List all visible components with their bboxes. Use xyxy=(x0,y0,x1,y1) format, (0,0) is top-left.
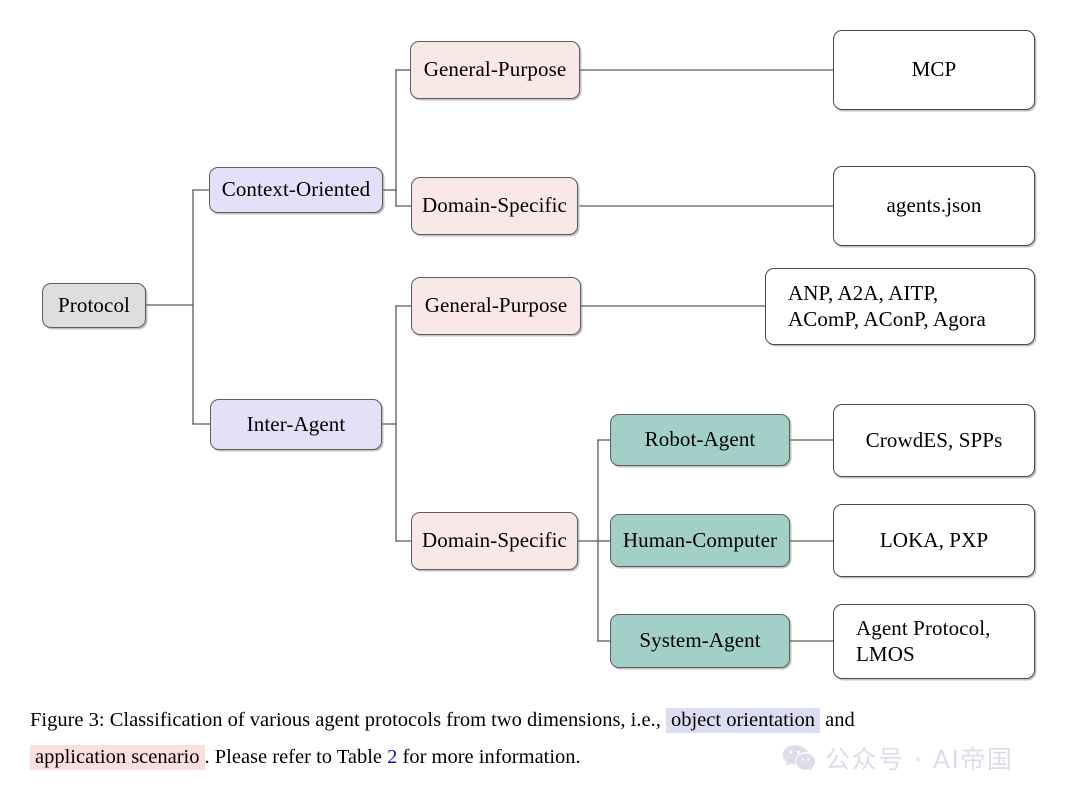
node-inter-agent[interactable]: Inter-Agent xyxy=(210,399,382,450)
tree-diagram: Protocol Context-Oriented Inter-Agent Ge… xyxy=(0,0,1080,700)
node-label: agents.json xyxy=(886,193,981,219)
caption-prefix: Figure 3: Classification of various agen… xyxy=(30,709,661,731)
node-context-domain-specific[interactable]: Domain-Specific xyxy=(411,177,578,235)
figure-page: Protocol Context-Oriented Inter-Agent Ge… xyxy=(0,0,1080,807)
node-label: Agent Protocol, LMOS xyxy=(834,616,990,667)
node-label: Protocol xyxy=(58,293,130,319)
node-protocol[interactable]: Protocol xyxy=(42,283,146,328)
leaf-agents-json[interactable]: agents.json xyxy=(833,166,1035,246)
node-label: Domain-Specific xyxy=(422,193,567,219)
leaf-mcp[interactable]: MCP xyxy=(833,30,1035,110)
node-label: ANP, A2A, AITP, AComP, AConP, Agora xyxy=(766,281,986,332)
node-label: System-Agent xyxy=(639,628,760,654)
leaf-system-agent-protocols[interactable]: Agent Protocol, LMOS xyxy=(833,604,1035,679)
node-label: LOKA, PXP xyxy=(880,528,988,554)
figure-caption: Figure 3: Classification of various agen… xyxy=(30,704,1050,774)
node-inter-general-purpose[interactable]: General-Purpose xyxy=(411,277,581,335)
caption-connector: and xyxy=(825,709,855,731)
node-inter-domain-specific[interactable]: Domain-Specific xyxy=(411,512,578,570)
node-label: Inter-Agent xyxy=(247,412,346,438)
node-label: MCP xyxy=(912,57,957,83)
node-label: Robot-Agent xyxy=(645,427,756,453)
node-label: Domain-Specific xyxy=(422,528,567,554)
node-context-oriented[interactable]: Context-Oriented xyxy=(209,167,383,213)
leaf-human-computer-protocols[interactable]: LOKA, PXP xyxy=(833,504,1035,577)
caption-highlight-application-scenario: application scenario xyxy=(30,745,205,770)
node-label: General-Purpose xyxy=(425,293,568,319)
node-robot-agent[interactable]: Robot-Agent xyxy=(610,414,790,466)
node-label: CrowdES, SPPs xyxy=(866,428,1003,454)
node-human-computer[interactable]: Human-Computer xyxy=(610,514,790,567)
node-system-agent[interactable]: System-Agent xyxy=(610,614,790,668)
node-label: Human-Computer xyxy=(623,528,777,554)
caption-suffix-1: . Please refer to Table xyxy=(205,746,382,768)
table-reference-link[interactable]: 2 xyxy=(387,746,397,768)
caption-suffix-2: for more information. xyxy=(403,746,581,768)
node-context-general-purpose[interactable]: General-Purpose xyxy=(410,41,580,99)
node-label: General-Purpose xyxy=(424,57,567,83)
leaf-inter-general-protocols[interactable]: ANP, A2A, AITP, AComP, AConP, Agora xyxy=(765,268,1035,345)
leaf-robot-agent-protocols[interactable]: CrowdES, SPPs xyxy=(833,404,1035,477)
caption-highlight-object-orientation: object orientation xyxy=(666,708,820,733)
node-label: Context-Oriented xyxy=(222,177,371,203)
